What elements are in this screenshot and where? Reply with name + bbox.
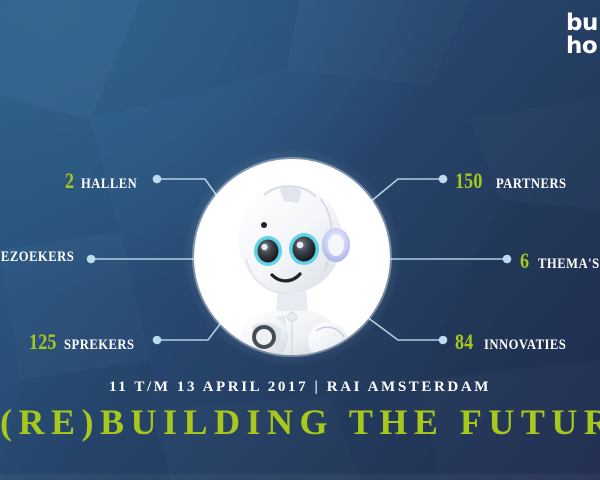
event-dateline: 11 T/M 13 APRIL 2017 | RAI AMSTERDAM — [0, 379, 600, 396]
poster-canvas: bu ho — [0, 0, 600, 480]
connector-dot-sprekers — [153, 336, 162, 345]
stat-hallen-label: HALLEN — [81, 177, 137, 192]
connector-dot-partners — [439, 175, 448, 184]
pepper-robot-icon — [194, 159, 390, 355]
event-headline: (RE)BUILDING THE FUTURE — [0, 401, 600, 443]
stat-themas: 6 THEMA'S — [520, 250, 600, 272]
robot-circle — [194, 159, 390, 355]
stat-themas-number: 6 — [520, 250, 529, 272]
stat-themas-label: THEMA'S — [538, 257, 600, 272]
stat-hallen-number: 2 — [65, 170, 74, 192]
connector-dot-innovaties — [439, 336, 448, 345]
connector-dot-hallen — [153, 175, 162, 184]
stat-bezoekers: BEZOEKERS — [0, 250, 90, 265]
stat-hallen: 2 HALLEN — [63, 170, 148, 192]
stat-innovaties-label: INNOVATIES — [484, 338, 566, 353]
stat-sprekers-label: SPREKERS — [64, 338, 135, 353]
stat-partners-number: 150 — [455, 170, 483, 192]
brand-logo[interactable]: bu ho — [566, 12, 598, 58]
stat-partners-label: PARTNERS — [496, 177, 567, 192]
stat-innovaties: 84 INNOVATIES — [455, 331, 582, 353]
logo-line-2: ho — [566, 35, 598, 58]
circle-disc — [194, 159, 390, 355]
stat-sprekers: 125 SPREKERS — [23, 331, 148, 353]
stat-innovaties-number: 84 — [455, 331, 473, 353]
connector-dot-themas — [503, 255, 512, 264]
stat-bezoekers-label: BEZOEKERS — [0, 250, 74, 265]
stat-partners: 150 PARTNERS — [455, 170, 580, 192]
bottom-band — [0, 474, 600, 480]
stat-sprekers-number: 125 — [29, 331, 57, 353]
